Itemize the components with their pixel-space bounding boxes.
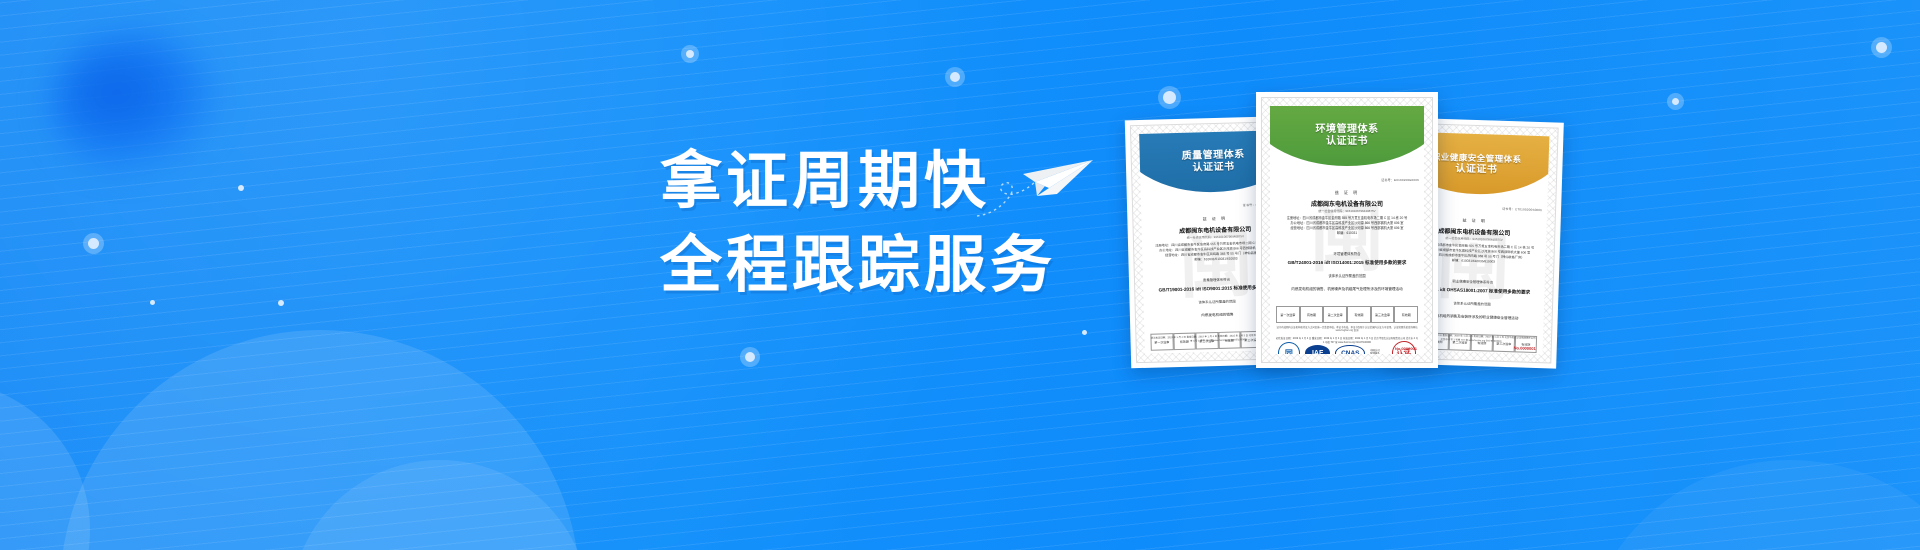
- cnas-logo-icon: CNAS: [1335, 345, 1365, 354]
- certificate-address-line: 邮编：610031: [1276, 231, 1418, 236]
- background-circle-right: [1580, 460, 1920, 550]
- decor-dot-6: [745, 352, 755, 362]
- decor-dot-10: [1876, 42, 1887, 53]
- certificate-serial: No.0000001: [1514, 345, 1536, 351]
- certificate-number: 证书号：E0190200E0006: [1381, 178, 1419, 182]
- certificate-audit-cell: 第一次监审: [1276, 306, 1300, 323]
- paper-plane-icon: [975, 152, 1105, 222]
- headline-line-2: 全程跟踪服务: [660, 224, 1090, 308]
- certificate-environment[interactable]: 环境管理体系 认证证书 闽 证书号：E0190200E0006 兹 证 明 成都…: [1256, 92, 1438, 368]
- decor-dot-2: [278, 300, 284, 306]
- certificate-title-line1: 环境管理体系: [1270, 124, 1424, 136]
- background-glow-blob: [52, 34, 222, 174]
- decor-dot-0: [88, 238, 99, 249]
- decor-dot-7: [1082, 330, 1087, 335]
- decor-dot-3: [150, 300, 155, 305]
- certificate-declaration: 兹 证 明: [1270, 190, 1424, 196]
- iaf-logo-icon: IAF: [1305, 345, 1331, 354]
- decor-dot-9: [1672, 98, 1679, 105]
- certificate-number: 证书号：CT0190200S0006: [1502, 207, 1542, 212]
- certificate-audit-cell: 第三次监审: [1371, 306, 1395, 323]
- certificate-scope-label: 该体系认证所覆盖的范围: [1270, 273, 1424, 278]
- certificate-address: 注册地址：四川省成都市金牛区金府路 555 号万贯五金机电市场二期 C 区 14…: [1276, 216, 1418, 236]
- certificate-credit-code: 统一社会信用代码：91510106796440875V: [1270, 209, 1424, 213]
- decor-dot-1: [238, 185, 244, 191]
- certificate-serial: No.0000001: [1395, 346, 1417, 351]
- certificate-group: 质量管理体系 认证证书 闽 证书号：CT0190200Q0006 兹 证 明 成…: [1128, 78, 1588, 378]
- background-circle-small-left: [0, 380, 90, 550]
- certificate-title-line2: 认证证书: [1270, 136, 1424, 148]
- decor-dot-4: [686, 50, 694, 58]
- certificate-company: 成都闽东电机设备有限公司: [1270, 199, 1424, 208]
- certificate-standard-label: 环境管理体系符合: [1270, 251, 1424, 256]
- certificate-audit-cell: 第二次监审: [1323, 306, 1347, 323]
- certificate-audit-cell: 有效期: [1394, 306, 1418, 323]
- certificate-footer: 初次发证日期：2019 年 1 月 4 日 重发日期：2019 年 1 月 4 …: [1276, 337, 1418, 344]
- certificate-audit-cell: 有效期: [1300, 306, 1324, 323]
- certificate-standard: GB/T24001-2016 idt ISO14001:2015 标准使用多款的…: [1270, 260, 1424, 266]
- certificate-title: 环境管理体系 认证证书: [1270, 124, 1424, 148]
- certificate-audit-cell: 有效期: [1347, 306, 1371, 323]
- certificate-audit-grid: 第一次监审有效期第二次监审有效期第三次监审有效期: [1276, 306, 1418, 323]
- promo-banner: 拿证周期快 全程跟踪服务 质量管理体系 认证证书 闽: [0, 0, 1920, 550]
- decor-dot-5: [950, 72, 960, 82]
- certificate-scope: 内燃发电机组的销售、机房噪声及机组尾气处理所涉及的环境管理活动: [1276, 286, 1418, 292]
- certificate-fine-print: 证书有效期内认证机构和持证方之间实施一定监督审核，本证书有效，本证书仅限于认证范…: [1276, 326, 1418, 333]
- logo-caption: 中国认可管理体系MANAGEMENT: [1370, 349, 1387, 355]
